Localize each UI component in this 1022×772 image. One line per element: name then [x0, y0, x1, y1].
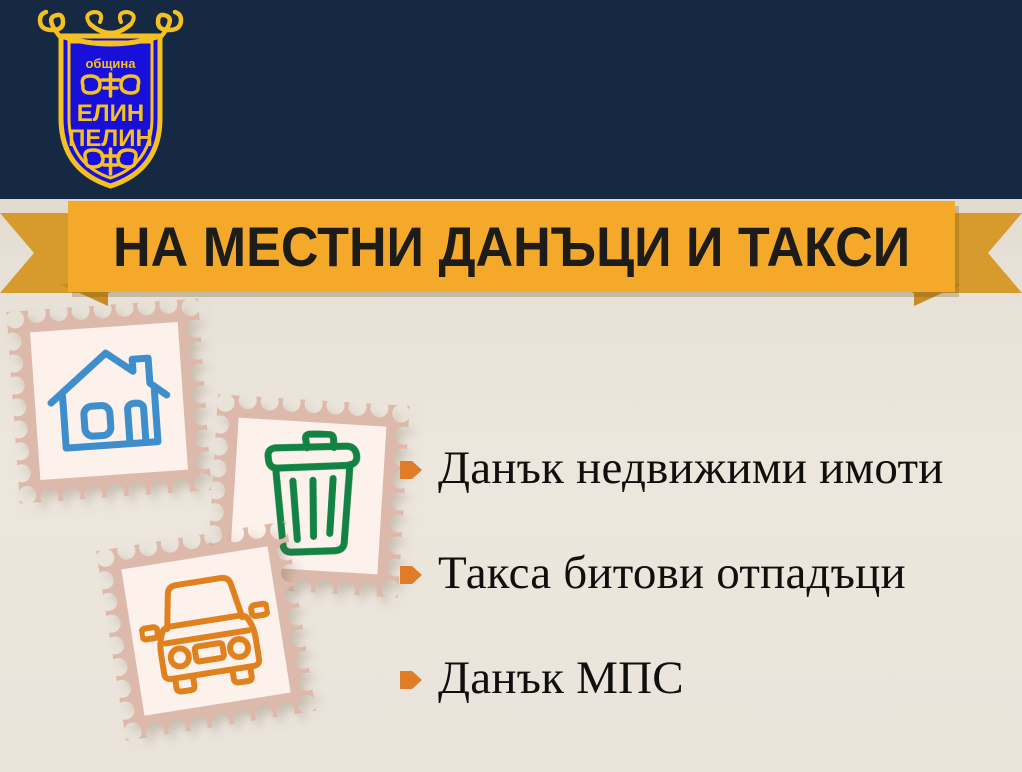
poster-root: община ЕЛИН ПЕЛИН ПРОВЕРКА И ПЛАЩАНЕ НА …: [0, 0, 1022, 772]
stamp-card-house: [7, 299, 212, 504]
stamp-card-car: [96, 521, 316, 741]
list-item-label: Данък недвижими имоти: [438, 442, 944, 494]
arrow-bullet-icon: [398, 455, 424, 485]
arrow-bullet-icon: [398, 560, 424, 590]
ribbon-text: НА МЕСТНИ ДАНЪЦИ И ТАКСИ: [113, 219, 910, 275]
ribbon-banner: НА МЕСТНИ ДАНЪЦИ И ТАКСИ: [0, 196, 1022, 301]
stamp-card-group: [0, 300, 420, 772]
car-front-icon: [130, 555, 281, 706]
ribbon-main-panel: НА МЕСТНИ ДАНЪЦИ И ТАКСИ: [68, 201, 955, 292]
list-item-label: Такса битови отпадъци: [438, 547, 906, 599]
coat-of-arms-shield-icon: община ЕЛИН ПЕЛИН: [28, 8, 193, 193]
tax-type-list: Данък недвижими имоти Такса битови отпад…: [398, 415, 1013, 730]
list-item: Данък недвижими имоти: [398, 415, 1013, 520]
arrow-bullet-icon: [398, 665, 424, 695]
list-item-label: Данък МПС: [438, 652, 684, 704]
list-item: Данък МПС: [398, 625, 1013, 730]
crest-name-line1: ЕЛИН: [77, 100, 144, 127]
crest-municipality-label: община: [85, 56, 136, 71]
list-item: Такса битови отпадъци: [398, 520, 1013, 625]
house-icon: [39, 331, 180, 472]
